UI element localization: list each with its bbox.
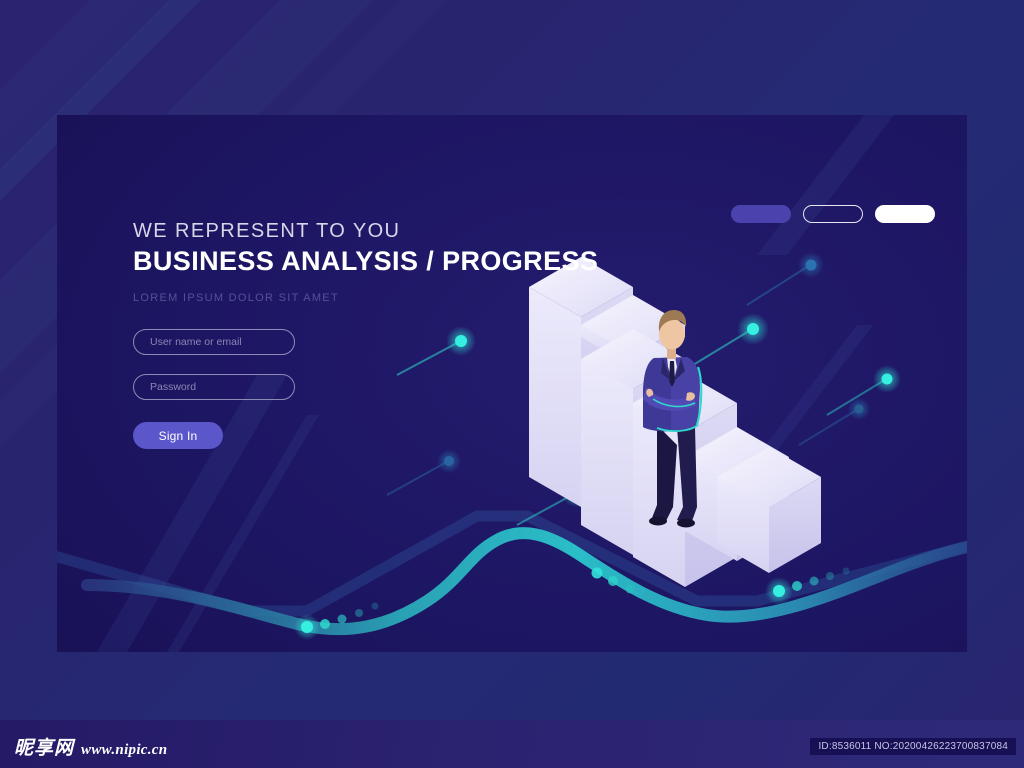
hero-subhead: LOREM IPSUM DOLOR SIT AMET xyxy=(133,292,339,304)
asset-id-badge: ID:8536011 NO:20200426223700837084 xyxy=(810,738,1016,755)
nav-pill-group xyxy=(731,205,935,223)
site-logo: 昵享网 www.nipic.cn xyxy=(14,733,167,760)
nav-pill-primary[interactable] xyxy=(731,205,791,223)
password-input[interactable] xyxy=(133,374,295,400)
logo-cn-text: 昵享网 xyxy=(14,733,74,760)
page-title: BUSINESS ANALYSIS / PROGRESS xyxy=(133,246,598,277)
nav-pill-secondary[interactable] xyxy=(803,205,863,223)
screenshot-stage: WE REPRESENT TO YOU BUSINESS ANALYSIS / … xyxy=(0,0,1024,768)
hero-eyebrow: WE REPRESENT TO YOU xyxy=(133,220,400,243)
hero-card: WE REPRESENT TO YOU BUSINESS ANALYSIS / … xyxy=(57,115,967,652)
username-input[interactable] xyxy=(133,329,295,355)
nav-pill-tertiary[interactable] xyxy=(875,205,935,223)
sign-in-button[interactable]: Sign In xyxy=(133,422,223,449)
logo-url-text: www.nipic.cn xyxy=(81,742,167,759)
